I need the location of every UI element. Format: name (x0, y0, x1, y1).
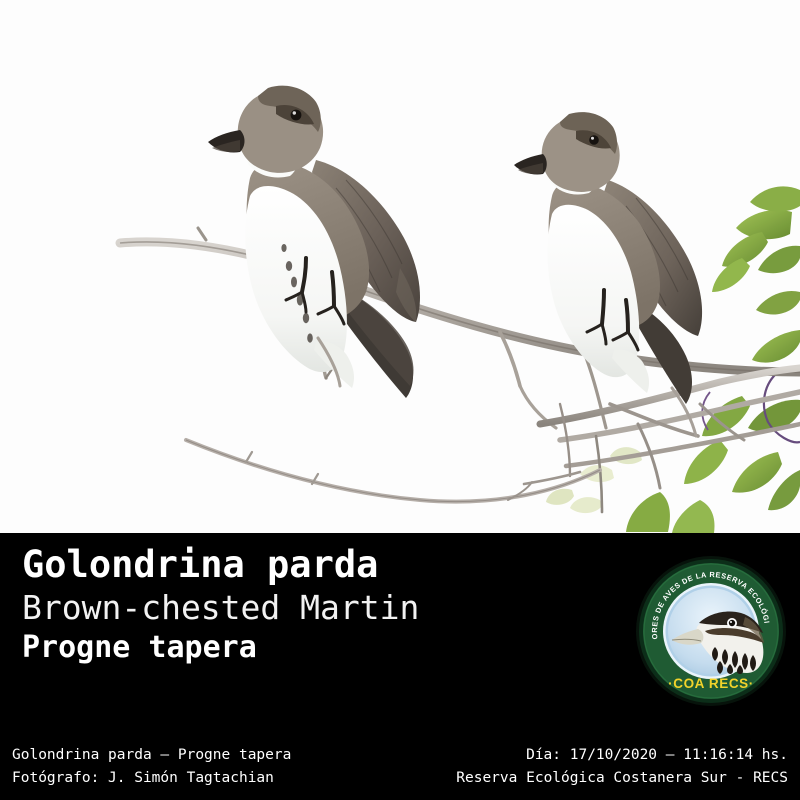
footer-right: Día: 17/10/2020 — 11:16:14 hs. Reserva E… (456, 744, 788, 790)
photograph (0, 0, 800, 533)
title-block: Golondrina parda Brown-chested Martin Pr… (22, 543, 622, 668)
bird-eye (589, 135, 599, 145)
common-name: Golondrina parda (22, 543, 622, 587)
coa-recs-logo: CLUB DE OBSERVADORES DE AVES DE LA RESER… (635, 555, 787, 707)
footer-species-line: Golondrina parda — Progne tapera (12, 744, 291, 767)
english-name: Brown-chested Martin (22, 587, 622, 628)
scientific-name: Progne tapera (22, 628, 622, 668)
badge-bottom-text: ·COA RECS· (668, 676, 754, 691)
footer-location-line: Reserva Ecológica Costanera Sur - RECS (456, 767, 788, 790)
footer-datetime-line: Día: 17/10/2020 — 11:16:14 hs. (456, 744, 788, 767)
bird-eye (291, 110, 302, 121)
bird-photo-card: Golondrina parda Brown-chested Martin Pr… (0, 0, 800, 800)
footer-left: Golondrina parda — Progne tapera Fotógra… (12, 744, 291, 790)
footer-photographer-line: Fotógrafo: J. Simón Tagtachian (12, 767, 291, 790)
